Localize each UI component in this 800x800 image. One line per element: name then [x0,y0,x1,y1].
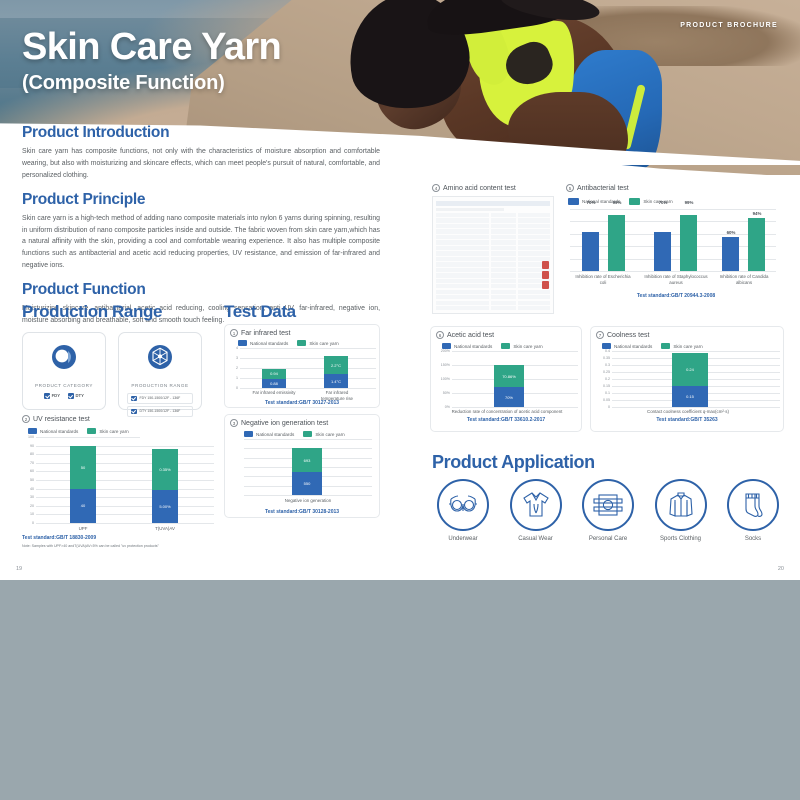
chart-anti-plot: 70% 99% 70% 99% 60% 94% Inhibition rate … [570,209,776,271]
legend-swatch-green [629,198,640,205]
xlabel-tuva: T(UVA)AV [140,526,190,532]
chart-ion-title: Negative ion generation test [241,420,328,427]
bar-coolness: 0.24 0.15 [672,353,708,407]
bar-segment-skincare: 0.24 [672,353,708,386]
ytick: 100% [441,377,450,381]
table-row [436,279,550,283]
bar-segment-national: 1.4°C [324,374,348,388]
ytick: 70 [30,461,34,465]
standard-cool: Test standard:GB/T 35263 [596,417,778,423]
legend-skincare: Skin care yarn [303,431,344,437]
table-row [436,262,550,266]
legend-national-label: National standards [614,344,652,349]
legend-national: National standards [28,428,78,434]
legend-skincare: Skin care yarn [661,343,702,349]
legend-swatch-blue [28,428,37,434]
heading-product-introduction: Product Introduction [22,124,380,142]
bar-segment-national: 70% [494,387,524,407]
application-icon-row: Underwear Casual Wear [432,479,784,542]
ytick: 0.15 [603,384,610,388]
report-header-bar [436,201,550,206]
table-row [436,218,550,222]
product-category-options: FDY DTY [44,393,84,399]
section-product-introduction: Product Introduction Skin care yarn has … [22,124,380,182]
bar-segment-national: 5.00% [152,490,178,523]
production-range-label: PRODUCTION RANGE [131,383,188,388]
bar-staph-national [654,232,671,271]
ytick: 0.3 [605,363,610,367]
ytick: 2 [236,366,238,370]
legend-swatch-green [297,340,306,346]
application-label: Personal Care [589,536,627,542]
bar-segment-skincare: 693 [292,448,322,471]
table-row [436,273,550,277]
body-product-introduction: Skin care yarn has composite functions, … [22,146,380,182]
legend-swatch-green [87,428,96,434]
page-subtitle: (Composite Function) [22,72,225,95]
heading-product-principle: Product Principle [22,191,380,209]
chart-fir-title: Far infrared test [241,330,290,337]
legend-national-label: National standards [256,432,294,437]
chart-anti-title: Antibacterial test [577,185,629,192]
standard-uv: Test standard:GB/T 18830-2009 [22,535,218,541]
ytick: 100 [28,435,34,439]
application-item-casual-wear[interactable]: Casual Wear [505,479,567,542]
section-product-principle: Product Principle Skin care yarn is a hi… [22,191,380,272]
ytick: 3 [236,356,238,360]
table-row [436,295,550,299]
page-title: Skin Care Yarn [22,28,281,66]
bar-segment-national: 40 [70,489,96,523]
legend-national-label: National standards [40,429,78,434]
bar-candida-skincare [748,218,765,271]
chart-acetic-legend: National standards Skin care yarn [442,343,576,349]
ytick: 1 [236,376,238,380]
ytick: 40 [30,487,34,491]
bar-label: 99% [606,200,628,206]
heading-product-application: Product Application [432,452,784,473]
chart-number: 4 [432,184,440,192]
ytick: 0 [32,521,34,525]
chart-ion-title-row: 3 Negative ion generation test [230,419,374,427]
legend-skincare-label: Skin care yarn [315,432,344,437]
checkbox-icon[interactable] [68,393,74,399]
page-number-left: 19 [16,566,22,572]
chart-number: 7 [596,331,604,339]
hexagon-molecule-icon [145,342,175,377]
chart-uv-resistance: 2 UV resistance test National standards … [22,415,218,549]
table-row [436,251,550,255]
option-fdy-label: FDY [52,393,60,398]
legend-skincare-label: Skin care yarn [673,344,702,349]
application-label: Casual Wear [518,536,553,542]
table-row [436,213,550,217]
chart-uv-legend: National standards Skin care yarn [28,428,218,434]
application-item-personal-care[interactable]: Personal Care [577,479,639,542]
chart-uv-plot: 100 90 80 70 60 50 40 30 20 10 0 50 40 [36,437,214,523]
chart-number: 3 [230,419,238,427]
bar-fir-temp-rise: 2.2°C 1.4°C [324,356,348,388]
chart-antibacterial: 5 Antibacterial test National standards … [566,184,786,299]
bar-upf: 50 40 [70,446,96,523]
chart-uv-title: UV resistance test [33,416,90,423]
report-subheader-bar [436,208,504,211]
table-row [436,301,550,305]
table-row [436,235,550,239]
ytick: 0.25 [603,370,610,374]
legend-skincare: Skin care yarn [87,428,128,434]
spec-item[interactable]: FDY 150-1500/12F - 136F [127,393,193,404]
chart-ion-plot: 693 550 Negative ion generation [244,439,372,495]
spec-fdy: FDY 150-1500/12F - 136F [140,396,181,400]
chart-cool-title-row: 7 Coolness test [596,331,778,339]
ytick: 50% [443,391,450,395]
bra-icon [437,479,489,531]
chart-number: 1 [230,329,238,337]
table-row [436,224,550,228]
application-label: Socks [745,536,761,542]
checkbox-icon[interactable] [44,393,50,399]
bar-ecoli-national [582,232,599,271]
product-category-card: PRODUCT CATEGORY FDY DTY [22,332,106,410]
production-range-specs: FDY 150-1500/12F - 136F DTY 150-1500/12F… [127,393,193,417]
spec-dty: DTY 150-1500/12F - 136F [140,409,181,413]
ytick: 4 [236,346,238,350]
product-application-section: Product Application Underwear [432,452,784,542]
xlabel-fir-emissivity: Far infrared emissivity [252,390,296,396]
chart-fir-title-row: 1 Far infrared test [230,329,374,337]
chart-acetic-title-row: 6 Acetic acid test [436,331,576,339]
chart-acetic-acid: 6 Acetic acid test National standards Sk… [430,326,582,432]
ytick: 0.05 [603,398,610,402]
ytick: 20 [30,504,34,508]
chart-cool-legend: National standards Skin care yarn [602,343,778,349]
page-number-right: 20 [778,566,784,572]
ytick: 0.1 [605,391,610,395]
ytick: 30 [30,495,34,499]
report-stamp-icon [542,261,549,291]
xlabel-fir-temp: Far infrared temperature rise [314,390,360,401]
brochure-tag: PRODUCT BROCHURE [680,22,778,29]
chart-negative-ion: 3 Negative ion generation test National … [224,414,380,518]
production-range-section: Production Range PRODUCT CATEGORY FDY [22,302,218,410]
jacket-icon [655,479,707,531]
heading-test-data: Test Data [224,302,384,322]
yarn-spool-icon [49,342,79,377]
bar-segment-skincare: 0.35% [152,449,178,490]
ytick: 10 [30,512,34,516]
bar-tuva: 0.35% 5.00% [152,449,178,523]
application-item-underwear[interactable]: Underwear [432,479,494,542]
standard-ion: Test standard:GB/T 30128-2013 [230,509,374,515]
legend-skincare-label: Skin care yarn [513,344,542,349]
ytick: 80 [30,452,34,456]
legend-national-label: National standards [250,341,288,346]
ytick: 200% [441,349,450,353]
ytick: 50 [30,478,34,482]
bar-label: 70% [580,200,602,206]
standard-acetic: Test standard:GB/T 33610.2-2017 [436,417,576,423]
legend-swatch-green [661,343,670,349]
heading-production-range: Production Range [22,302,218,322]
bar-candida-national [722,237,739,271]
heading-product-function: Product Function [22,281,380,299]
production-range-cards: PRODUCT CATEGORY FDY DTY [22,332,218,410]
application-item-sports-clothing[interactable]: Sports Clothing [650,479,712,542]
ytick: 0.2 [605,377,610,381]
amino-acid-report-image [432,196,554,314]
legend-skincare: Skin care yarn [501,343,542,349]
bar-segment-skincare: 50 [70,446,96,489]
bar-segment-national: 0.88 [262,379,286,389]
legend-swatch-green [303,431,312,437]
legend-skincare-label: Skin care yarn [99,429,128,434]
ytick: 90 [30,444,34,448]
bar-label: 70% [652,200,674,206]
application-label: Sports Clothing [660,536,701,542]
bar-acetic: 70.86% 70% [494,365,524,407]
ytick: 150% [441,363,450,367]
table-row [436,306,550,310]
production-range-card: PRODUCTION RANGE FDY 150-1500/12F - 136F… [118,332,202,410]
option-dty-label: DTY [76,393,84,398]
chart-amino-title: Amino acid content test [443,185,516,192]
ytick: 0 [236,386,238,390]
test-data-section: Test Data [224,302,384,322]
legend-national: National standards [238,340,288,346]
legend-swatch-blue [568,198,579,205]
chart-ion-legend: National standards Skin care yarn [244,431,374,437]
chart-amino-acid: 4 Amino acid content test [432,184,558,192]
socks-icon [727,479,779,531]
bar-segment-skincare: 2.2°C [324,356,348,374]
xlabel-ecoli: Inhibition rate of Escherichia coli [572,274,634,285]
table-row [436,290,550,294]
chart-number: 5 [566,184,574,192]
table-row [436,268,550,272]
ytick: 0.35 [603,356,610,360]
chart-coolness: 7 Coolness test National standards Skin … [590,326,784,432]
option-fdy[interactable]: FDY [44,393,60,399]
brochure-page: PRODUCT BROCHURE Skin Care Yarn (Composi… [0,0,800,580]
xlabel-staph: Inhibition rate of Staphylococcus aureus [642,274,710,285]
bar-segment-skincare: 0.94 [262,369,286,379]
note-uv: Note: Samples with UPF>40 andT(UVA)AV<5%… [22,544,218,549]
table-row [436,246,550,250]
product-category-label: PRODUCT CATEGORY [35,383,93,388]
checkbox-icon[interactable] [131,409,137,415]
chart-number: 2 [22,415,30,423]
bar-segment-national: 550 [292,472,322,495]
chart-cool-plot: 0.4 0.35 0.3 0.25 0.2 0.15 0.1 0.05 0 0.… [612,351,780,407]
option-dty[interactable]: DTY [68,393,84,399]
xlabel-negative-ion: Negative ion generation [268,498,348,504]
legend-swatch-blue [238,340,247,346]
chart-fir-plot: 4 3 2 1 0 0.94 0.88 2.2°C 1.4°C Far infr… [240,348,376,388]
chart-cool-title: Coolness test [607,332,649,339]
chart-amino-title-row: 4 Amino acid content test [432,184,558,192]
shirt-icon [510,479,562,531]
legend-swatch-blue [244,431,253,437]
table-row [436,257,550,261]
xlabel-acetic: Reduction rate of concentration of aceti… [436,409,578,415]
bar-staph-skincare [680,215,697,271]
bar-label: 60% [720,230,742,236]
chart-acetic-title: Acetic acid test [447,332,494,339]
legend-swatch-green [501,343,510,349]
ytick: 60 [30,469,34,473]
table-row [436,240,550,244]
chart-number: 6 [436,331,444,339]
bar-fir-emissivity: 0.94 0.88 [262,369,286,388]
bar-negative-ion: 693 550 [292,448,322,495]
bar-segment-national: 0.15 [672,386,708,407]
xlabel-upf: UPF [58,526,108,532]
xlabel-coolness: Contact coolness coefficient q-max(cm²·s… [596,409,780,415]
legend-skincare-label: Skin care yarn [309,341,338,346]
application-item-socks[interactable]: Socks [722,479,784,542]
xlabel-candida: Inhibition rate of Candida albicans [714,274,774,285]
ytick: 0.4 [605,349,610,353]
table-row [436,284,550,288]
table-row [436,229,550,233]
body-product-principle: Skin care yarn is a high-tech method of … [22,213,380,272]
legend-national-label: National standards [454,344,492,349]
chart-far-infrared: 1 Far infrared test National standards S… [224,324,380,408]
bar-ecoli-skincare [608,215,625,271]
chart-anti-title-row: 5 Antibacterial test [566,184,786,192]
chart-acetic-plot: 200% 150% 100% 50% 0% 70.86% 70% [452,351,578,407]
standard-anti: Test standard:GB/T 20944.3-2008 [566,293,786,299]
chart-fir-legend: National standards Skin care yarn [238,340,374,346]
legend-national: National standards [244,431,294,437]
legend-skincare: Skin care yarn [297,340,338,346]
application-label: Underwear [448,536,477,542]
wipes-icon [582,479,634,531]
bar-label: 94% [746,211,768,217]
checkbox-icon[interactable] [131,396,137,402]
chart-uv-title-row: 2 UV resistance test [22,415,218,423]
bar-label: 99% [678,200,700,206]
bar-segment-skincare: 70.86% [494,365,524,387]
